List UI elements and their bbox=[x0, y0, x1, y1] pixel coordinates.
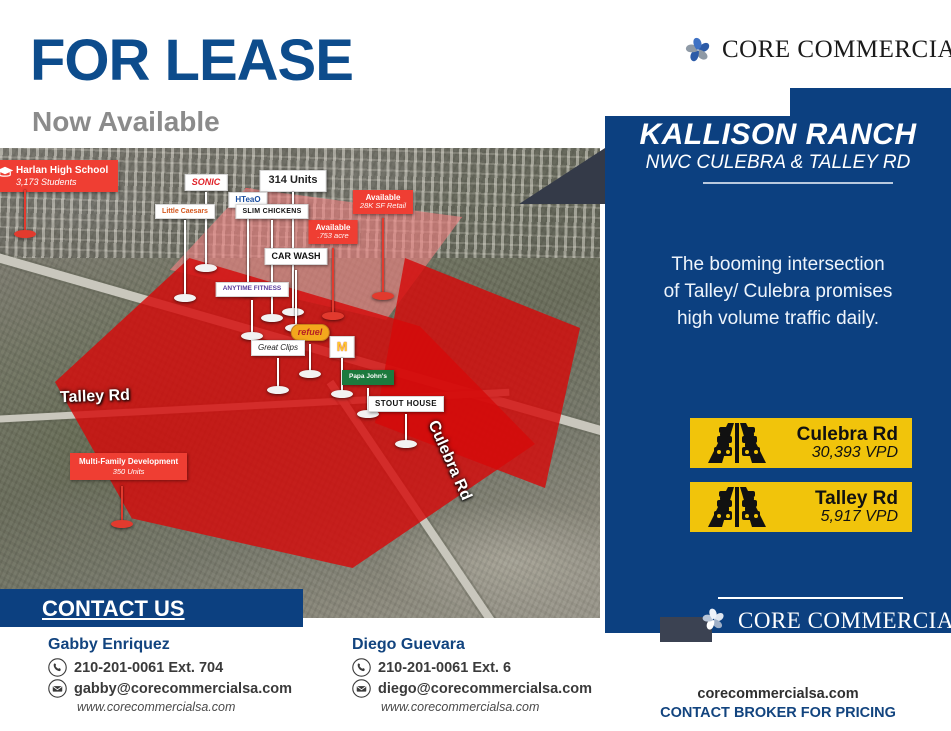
broker-phone: 210-201-0061 Ext. 6 bbox=[378, 660, 511, 676]
for-lease-flyer: FOR LEASE Now Available CORE COMMERCIAL bbox=[0, 0, 951, 731]
property-location: NWC CULEBRA & TALLEY RD bbox=[605, 152, 951, 174]
broker-card-1: Gabby Enriquez 210-201-0061 Ext. 704 gab… bbox=[48, 636, 348, 714]
brand-logo-footer: CORE COMMERCIAL bbox=[700, 606, 951, 636]
traffic-jam-icon bbox=[700, 485, 774, 527]
footer-website[interactable]: corecommercialsa.com bbox=[605, 686, 951, 702]
school-detail: 3,173 Students bbox=[16, 177, 108, 187]
broker-card-2: Diego Guevara 210-201-0061 Ext. 6 diego@… bbox=[352, 636, 652, 714]
callout-available-28k: Available 28K SF Retail bbox=[353, 190, 413, 214]
broker-phone: 210-201-0061 Ext. 704 bbox=[74, 660, 223, 676]
multifamily-detail: 350 Units bbox=[79, 467, 178, 476]
broker-name: Gabby Enriquez bbox=[48, 636, 348, 654]
property-description: The booming intersection of Talley/ Cule… bbox=[663, 252, 893, 333]
broker-email-row[interactable]: gabby@corecommercialsa.com bbox=[48, 679, 348, 698]
broker-website[interactable]: www.corecommercialsa.com bbox=[77, 700, 348, 714]
property-title: KALLISON RANCH bbox=[605, 118, 951, 152]
panel-notch bbox=[605, 88, 790, 116]
brand-name-footer: CORE COMMERCIAL bbox=[738, 608, 951, 634]
traffic-badge-talley: Talley Rd 5,917 VPD bbox=[687, 479, 915, 535]
callout-314-units: 314 Units bbox=[260, 170, 327, 192]
header-white-block bbox=[519, 88, 605, 148]
broker-phone-row[interactable]: 210-201-0061 Ext. 6 bbox=[352, 658, 652, 677]
footer-divider bbox=[718, 597, 903, 599]
badge-road-name: Culebra Rd bbox=[797, 424, 898, 445]
broker-name: Diego Guevara bbox=[352, 636, 652, 654]
brand-name-header: CORE COMMERCIAL bbox=[722, 36, 951, 64]
badge-vpd: 5,917 VPD bbox=[821, 508, 898, 525]
broker-email: gabby@corecommercialsa.com bbox=[74, 681, 292, 697]
tenant-label-mcdonalds: M bbox=[330, 336, 355, 358]
tenant-label-papa-johns: Papa John's bbox=[342, 370, 394, 385]
callout-available-acre: Available .753 acre bbox=[309, 220, 358, 244]
panel-divider bbox=[703, 182, 893, 184]
page-title: FOR LEASE bbox=[30, 32, 353, 90]
tenant-label-anytime-fitness: ANYTIME FITNESS bbox=[216, 282, 289, 297]
broker-phone-row[interactable]: 210-201-0061 Ext. 704 bbox=[48, 658, 348, 677]
broker-email: diego@corecommercialsa.com bbox=[378, 681, 592, 697]
tenant-label-great-clips: Great Clips bbox=[251, 340, 305, 356]
tenant-label-little-caesars: Little Caesars bbox=[155, 204, 215, 219]
pinwheel-logo-icon bbox=[683, 35, 713, 65]
badge-road-name: Talley Rd bbox=[815, 488, 898, 509]
envelope-icon bbox=[352, 679, 371, 698]
contact-us-heading: CONTACT US bbox=[42, 596, 185, 622]
footer-pricing-cta: CONTACT BROKER FOR PRICING bbox=[605, 705, 951, 721]
brand-logo-header: CORE COMMERCIAL bbox=[683, 35, 951, 65]
callout-harlan-high-school: Harlan High School 3,173 Students bbox=[0, 160, 118, 192]
tenant-label-sonic: SONIC bbox=[185, 174, 228, 191]
school-name: Harlan High School bbox=[16, 165, 108, 176]
aerial-site-map: Talley Rd Culebra Rd Harlan High School … bbox=[0, 148, 600, 618]
callout-multifamily: Multi-Family Development 350 Units bbox=[70, 453, 187, 480]
tenant-label-stout-house: STOUT HOUSE bbox=[368, 396, 444, 412]
road-label-talley: Talley Rd bbox=[60, 387, 131, 407]
tenant-label-slim-chickens: SLIM CHICKENS bbox=[235, 204, 308, 219]
contact-us-bar: CONTACT US bbox=[0, 589, 303, 627]
tenant-label-car-wash: CAR WASH bbox=[265, 248, 328, 265]
traffic-jam-icon bbox=[700, 421, 774, 463]
tenant-label-refuel: refuel bbox=[291, 324, 330, 341]
graduation-cap-icon bbox=[0, 166, 14, 178]
phone-icon bbox=[48, 658, 67, 677]
multifamily-name: Multi-Family Development bbox=[79, 457, 178, 466]
page-subtitle: Now Available bbox=[32, 108, 220, 136]
badge-vpd: 30,393 VPD bbox=[812, 444, 898, 461]
pinwheel-logo-icon bbox=[700, 606, 730, 636]
envelope-icon bbox=[48, 679, 67, 698]
traffic-badge-culebra: Culebra Rd 30,393 VPD bbox=[687, 415, 915, 471]
phone-icon bbox=[352, 658, 371, 677]
